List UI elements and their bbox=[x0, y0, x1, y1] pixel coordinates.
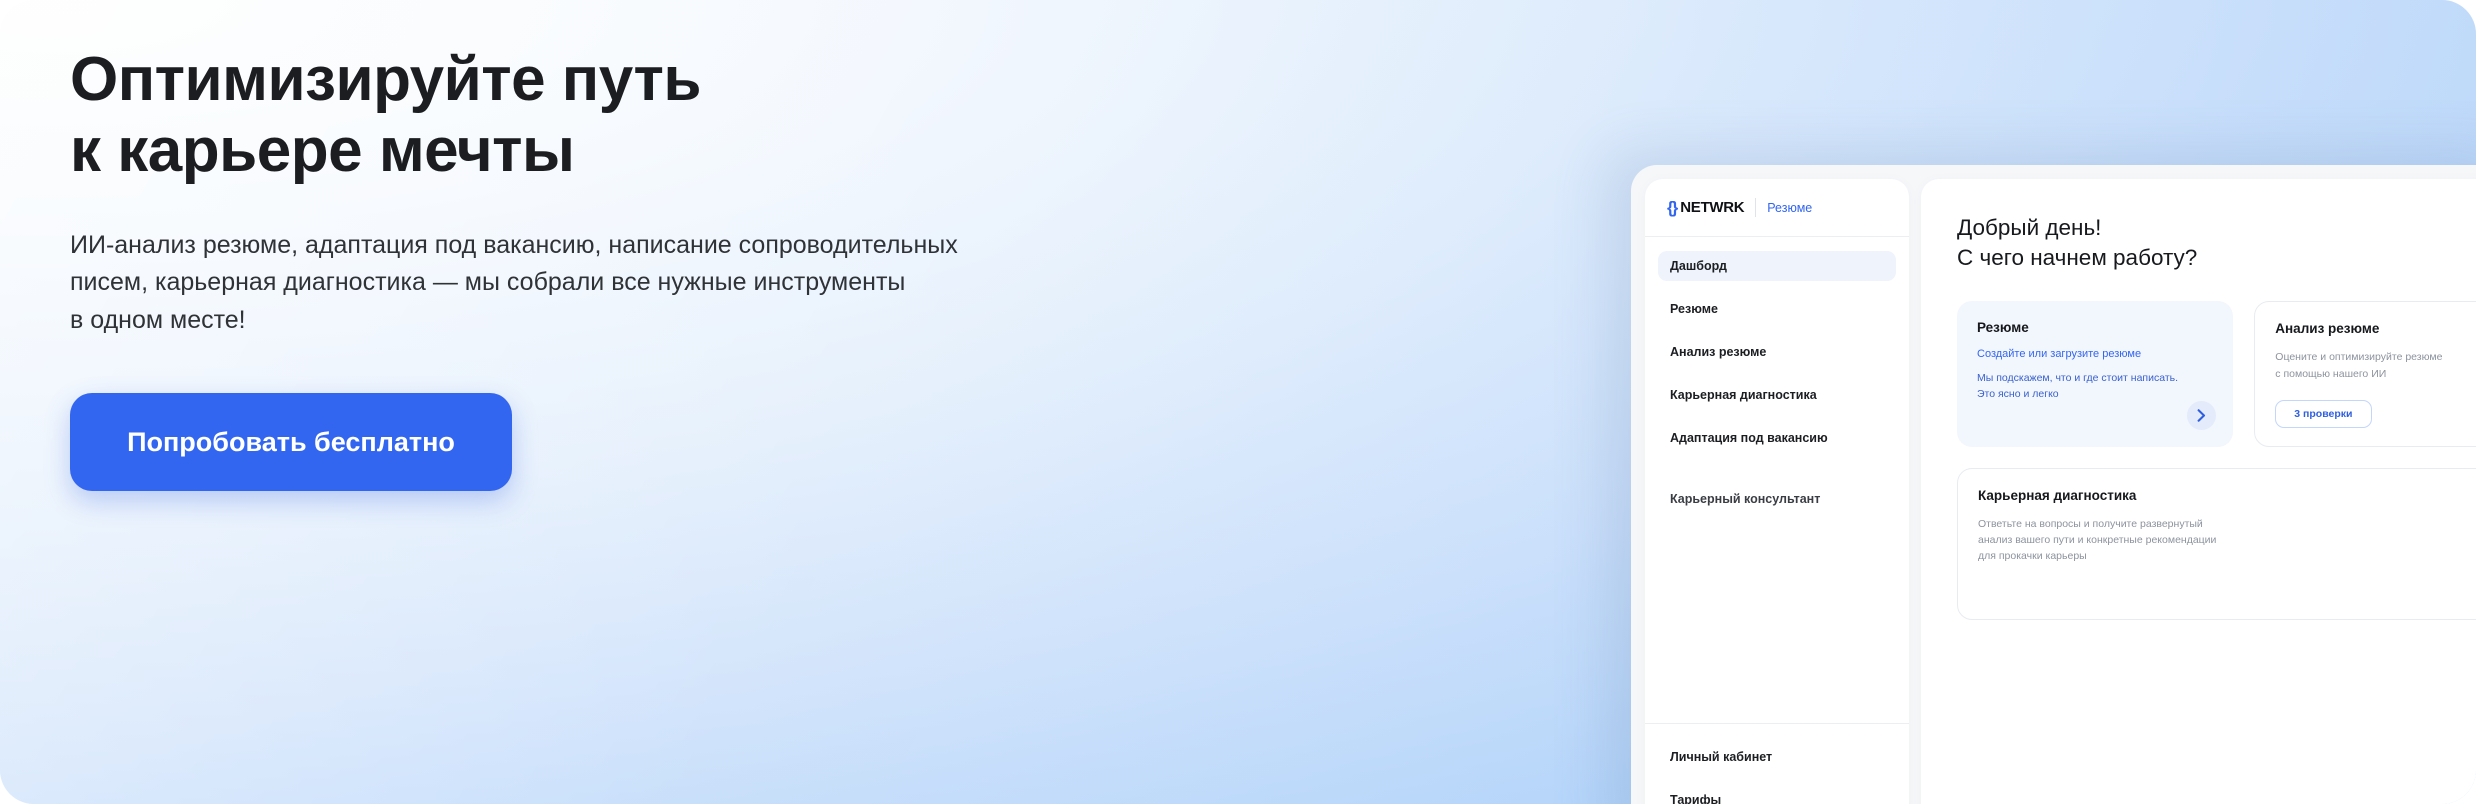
career-diagnostics-card[interactable]: Карьерная диагностика Ответьте на вопрос… bbox=[1957, 468, 2476, 620]
card-title: Карьерная диагностика bbox=[1978, 488, 2476, 503]
card-subtext-line-2: с помощью нашего ИИ bbox=[2275, 366, 2476, 382]
card-subtext-line-1: Ответьте на вопросы и получите развернут… bbox=[1978, 516, 2476, 532]
greeting-line-2: С чего начнем работу? bbox=[1957, 243, 2476, 273]
sidebar-item-career-consultant[interactable]: Карьерный консультант bbox=[1658, 484, 1896, 514]
page-title: Оптимизируйте путь к карьере мечты bbox=[70, 44, 1090, 187]
sidebar-item-label: Адаптация под вакансию bbox=[1670, 431, 1828, 445]
sidebar-divider bbox=[1645, 723, 1909, 724]
sidebar-item-resume-analysis[interactable]: Анализ резюме bbox=[1658, 337, 1896, 367]
brand-divider bbox=[1755, 198, 1756, 217]
card-title: Анализ резюме bbox=[2275, 321, 2476, 336]
paragraph-line-3: в одном месте! bbox=[70, 302, 1030, 340]
card-title: Резюме bbox=[1977, 320, 2213, 335]
sidebar-nav: Дашборд Резюме Анализ резюме Карьерная д… bbox=[1645, 237, 1909, 527]
greeting-line-1: Добрый день! bbox=[1957, 213, 2476, 243]
sidebar-item-career-diagnostics[interactable]: Карьерная диагностика bbox=[1658, 380, 1896, 410]
sidebar-item-dashboard[interactable]: Дашборд bbox=[1658, 251, 1896, 281]
greeting-heading: Добрый день! С чего начнем работу? bbox=[1957, 213, 2476, 273]
sidebar-item-label: Карьерный консультант bbox=[1670, 492, 1820, 506]
card-subtext: Ответьте на вопросы и получите развернут… bbox=[1978, 516, 2476, 565]
sidebar-item-job-adaptation[interactable]: Адаптация под вакансию bbox=[1658, 423, 1896, 453]
hero-paragraph: ИИ-анализ резюме, адаптация под вакансию… bbox=[70, 227, 1030, 340]
sidebar-item-label: Карьерная диагностика bbox=[1670, 388, 1817, 402]
sidebar-item-resume[interactable]: Резюме bbox=[1658, 294, 1896, 324]
brand-logo[interactable]: {} NETWRK bbox=[1667, 199, 1744, 216]
app-main-panel: Добрый день! С чего начнем работу? Резюм… bbox=[1921, 179, 2476, 804]
card-subtext-line-1: Оцените и оптимизируйте резюме bbox=[2275, 349, 2476, 365]
sidebar-spacer bbox=[1658, 466, 1896, 484]
headline-line-1: Оптимизируйте путь bbox=[70, 44, 1090, 115]
card-subtext-line-2: анализ вашего пути и конкретные рекоменд… bbox=[1978, 532, 2476, 548]
sidebar-header: {} NETWRK Резюме bbox=[1645, 179, 1909, 237]
resume-analysis-card[interactable]: Анализ резюме Оцените и оптимизируйте ре… bbox=[2254, 301, 2476, 447]
app-sidebar: {} NETWRK Резюме Дашборд Резюме Анализ р… bbox=[1645, 179, 1909, 804]
hero-copy-column: Оптимизируйте путь к карьере мечты ИИ-ан… bbox=[70, 44, 1090, 491]
hero-section: Оптимизируйте путь к карьере мечты ИИ-ан… bbox=[0, 0, 2476, 804]
card-row: Резюме Создайте или загрузите резюме Мы … bbox=[1957, 301, 2476, 447]
sidebar-item-account[interactable]: Личный кабинет bbox=[1658, 742, 1896, 772]
sidebar-item-label: Резюме bbox=[1670, 302, 1718, 316]
brand-tag[interactable]: Резюме bbox=[1767, 201, 1812, 215]
brand-name: NETWRK bbox=[1680, 199, 1744, 216]
paragraph-line-2: писем, карьерная диагностика — мы собрал… bbox=[70, 264, 1030, 302]
headline-line-2: к карьере мечты bbox=[70, 115, 1090, 186]
sidebar-item-label: Дашборд bbox=[1670, 259, 1727, 273]
sidebar-footer: Личный кабинет Тарифы Базовый bbox=[1645, 723, 1909, 804]
resume-card[interactable]: Резюме Создайте или загрузите резюме Мы … bbox=[1957, 301, 2233, 447]
card-subtext: Мы подскажем, что и где стоит написать. … bbox=[1977, 371, 2213, 403]
sidebar-item-label: Личный кабинет bbox=[1670, 750, 1772, 764]
braces-icon: {} bbox=[1667, 199, 1676, 216]
resume-card-go-button[interactable] bbox=[2187, 401, 2216, 430]
create-upload-resume-link[interactable]: Создайте или загрузите резюме bbox=[1977, 348, 2213, 360]
card-subtext-line-2: Это ясно и легко bbox=[1977, 387, 2213, 403]
try-free-button[interactable]: Попробовать бесплатно bbox=[70, 393, 512, 491]
sidebar-item-pricing[interactable]: Тарифы bbox=[1658, 785, 1896, 804]
paragraph-line-1: ИИ-анализ резюме, адаптация под вакансию… bbox=[70, 227, 1030, 265]
card-subtext-line-1: Мы подскажем, что и где стоит написать. bbox=[1977, 371, 2213, 387]
checks-count-button[interactable]: 3 проверки bbox=[2275, 400, 2371, 428]
card-subtext-line-3: для прокачки карьеры bbox=[1978, 548, 2476, 564]
sidebar-item-label: Тарифы bbox=[1670, 793, 1721, 804]
app-mockup: {} NETWRK Резюме Дашборд Резюме Анализ р… bbox=[1631, 165, 2476, 804]
chevron-right-icon bbox=[2197, 409, 2206, 422]
card-subtext: Оцените и оптимизируйте резюме с помощью… bbox=[2275, 349, 2476, 382]
sidebar-item-label: Анализ резюме bbox=[1670, 345, 1766, 359]
